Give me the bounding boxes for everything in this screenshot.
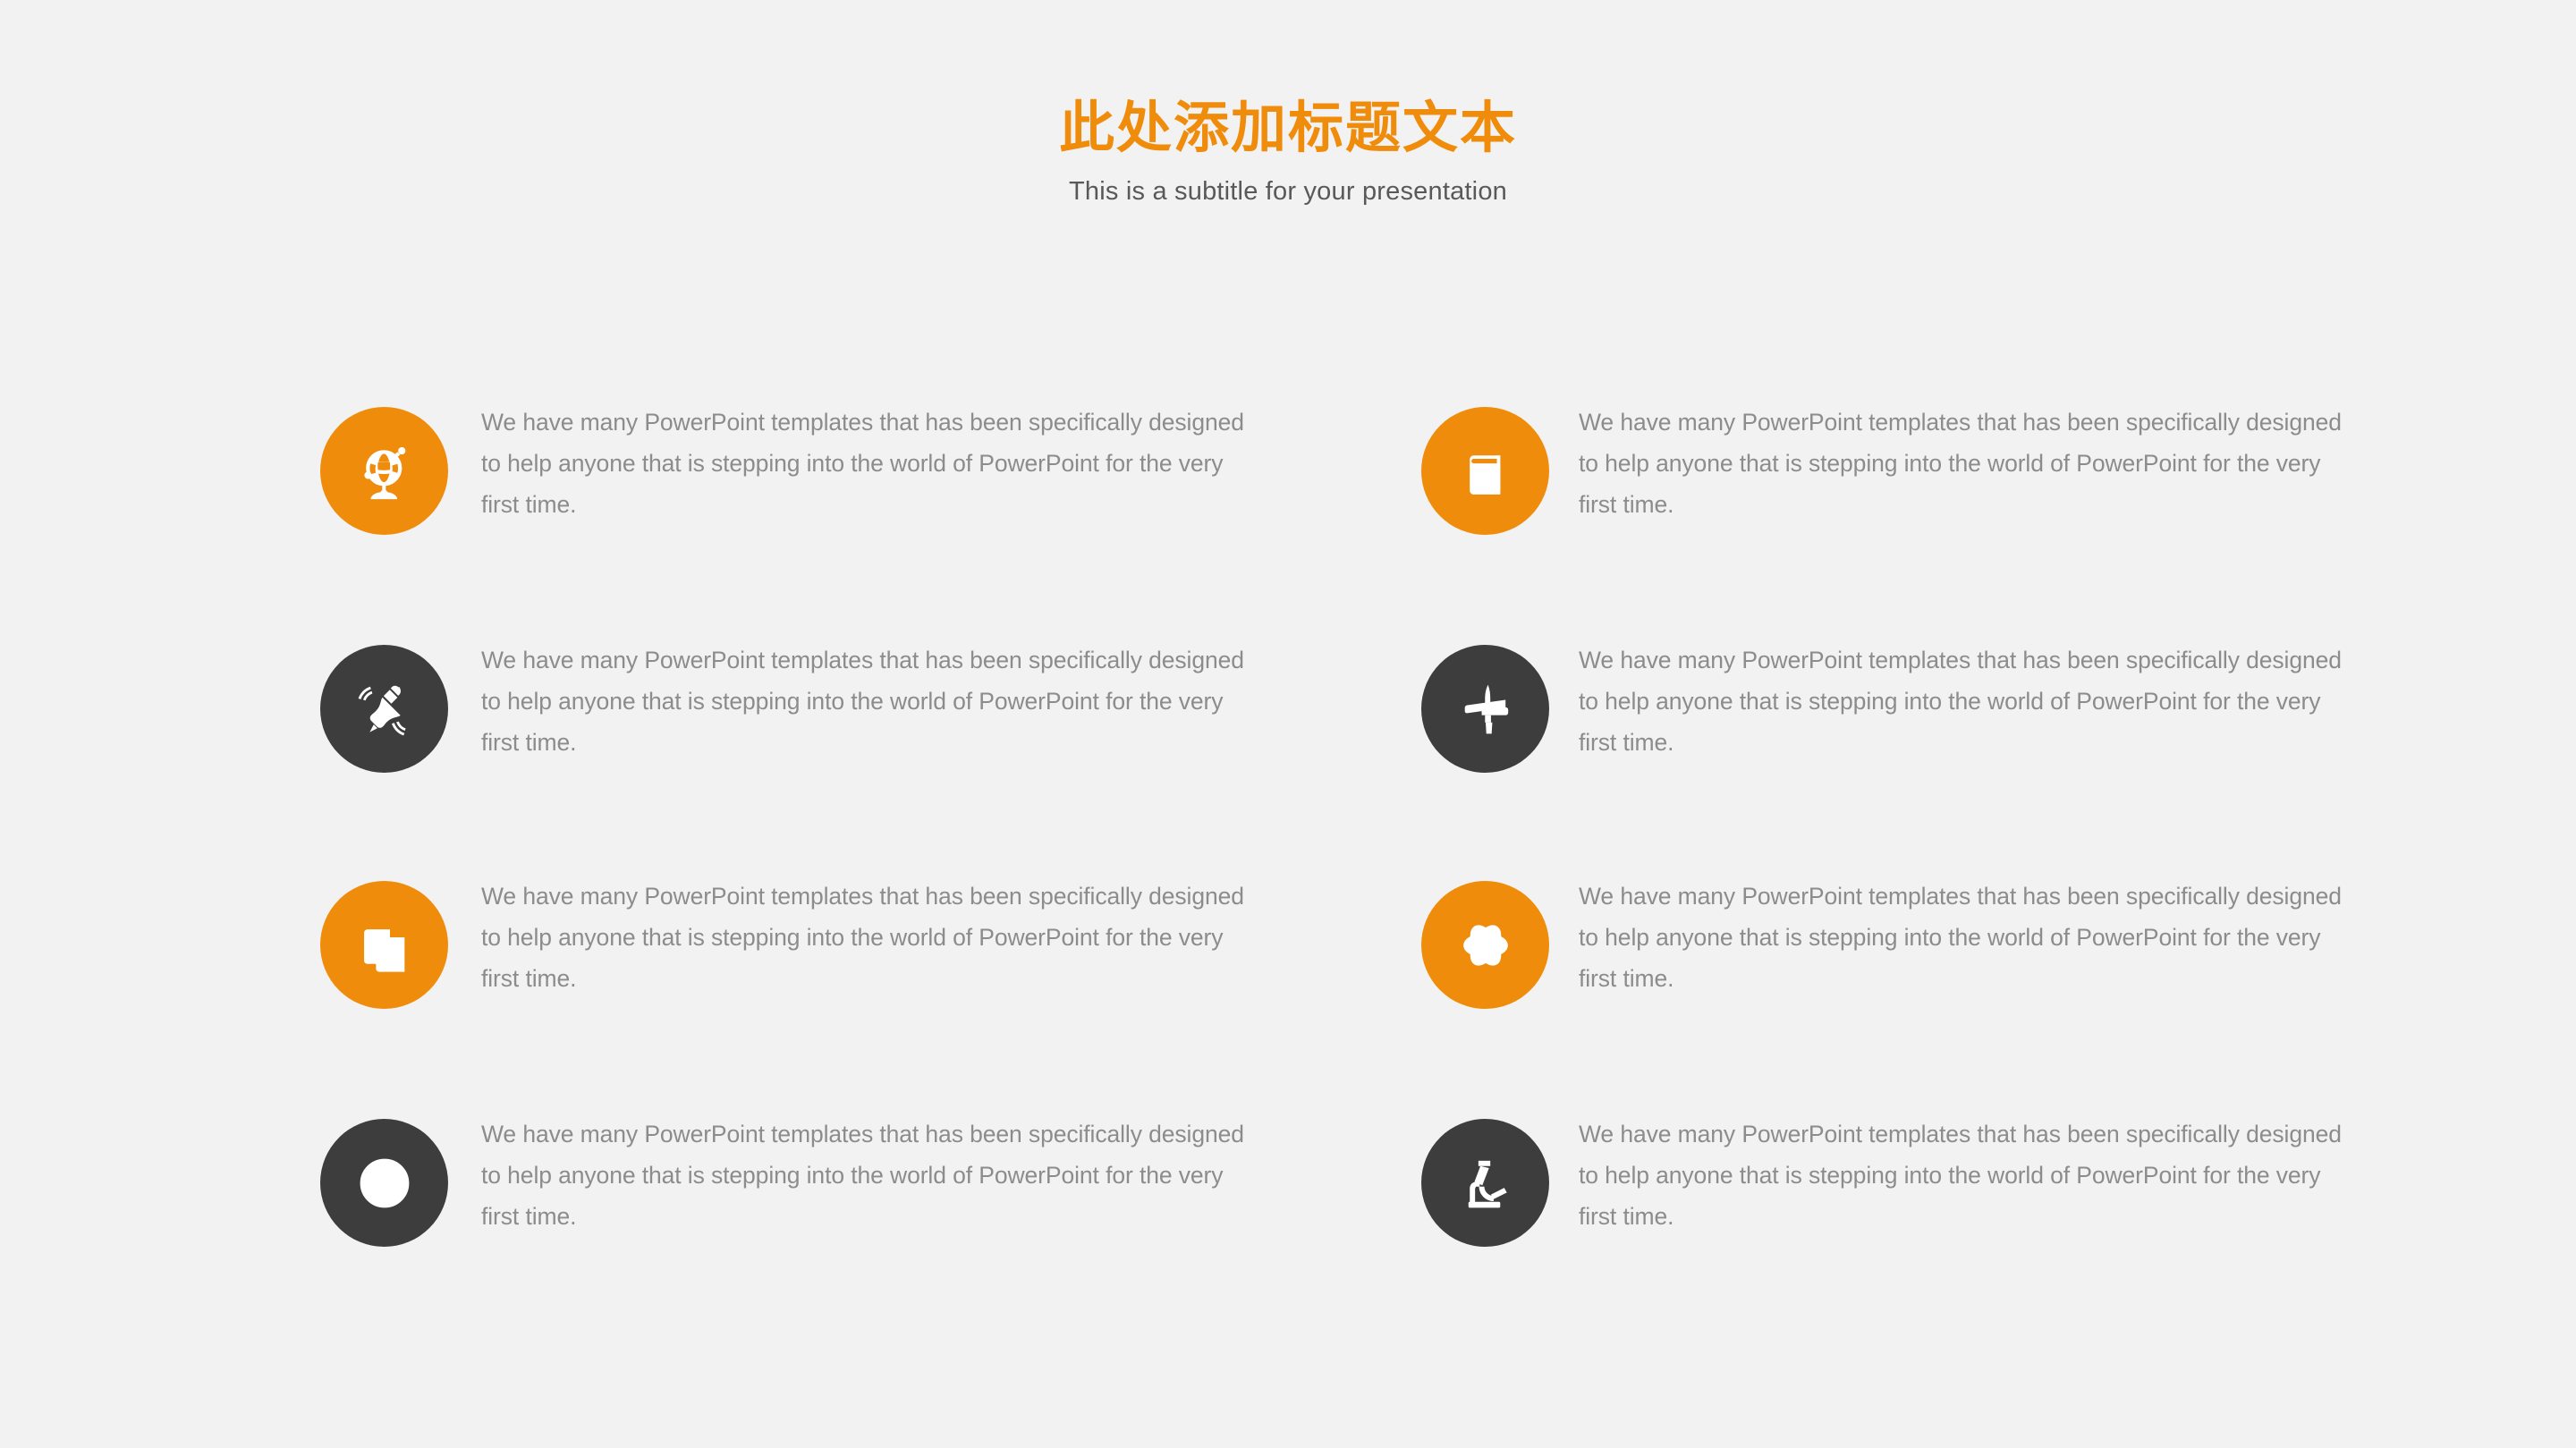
list-item[interactable]: We have many PowerPoint templates that h…: [320, 407, 1447, 535]
hand-bell-icon[interactable]: [320, 645, 448, 773]
book-icon[interactable]: [1421, 407, 1549, 535]
list-item[interactable]: We have many PowerPoint templates that h…: [320, 645, 1447, 773]
list-item[interactable]: We have many PowerPoint templates that h…: [1421, 407, 2548, 535]
list-item[interactable]: We have many PowerPoint templates that h…: [1421, 1119, 2548, 1247]
atom-icon[interactable]: [1421, 881, 1549, 1009]
list-item[interactable]: We have many PowerPoint templates that h…: [1421, 645, 2548, 773]
microscope-icon[interactable]: [1421, 1119, 1549, 1247]
pocket-knife-icon[interactable]: [1421, 645, 1549, 773]
list-item-text: We have many PowerPoint templates that h…: [1579, 1114, 2348, 1237]
stacked-books-icon[interactable]: [320, 881, 448, 1009]
slide-header: 此处添加标题文本 This is a subtitle for your pre…: [0, 100, 2576, 207]
list-item-text: We have many PowerPoint templates that h…: [481, 876, 1250, 999]
list-item-text: We have many PowerPoint templates that h…: [481, 402, 1250, 525]
desk-globe-icon[interactable]: [320, 407, 448, 535]
list-item-text: We have many PowerPoint templates that h…: [1579, 876, 2348, 999]
page-title: 此处添加标题文本: [0, 100, 2576, 156]
feature-items-grid: We have many PowerPoint templates that h…: [0, 407, 2576, 1248]
list-item-text: We have many PowerPoint templates that h…: [481, 639, 1250, 763]
list-item-text: We have many PowerPoint templates that h…: [1579, 402, 2348, 525]
page-subtitle: This is a subtitle for your presentation: [0, 156, 2576, 207]
world-globe-icon[interactable]: [320, 1119, 448, 1247]
list-item-text: We have many PowerPoint templates that h…: [1579, 639, 2348, 763]
list-item[interactable]: We have many PowerPoint templates that h…: [320, 1119, 1447, 1247]
list-item[interactable]: We have many PowerPoint templates that h…: [1421, 881, 2548, 1009]
list-item-text: We have many PowerPoint templates that h…: [481, 1114, 1250, 1237]
list-item[interactable]: We have many PowerPoint templates that h…: [320, 881, 1447, 1009]
